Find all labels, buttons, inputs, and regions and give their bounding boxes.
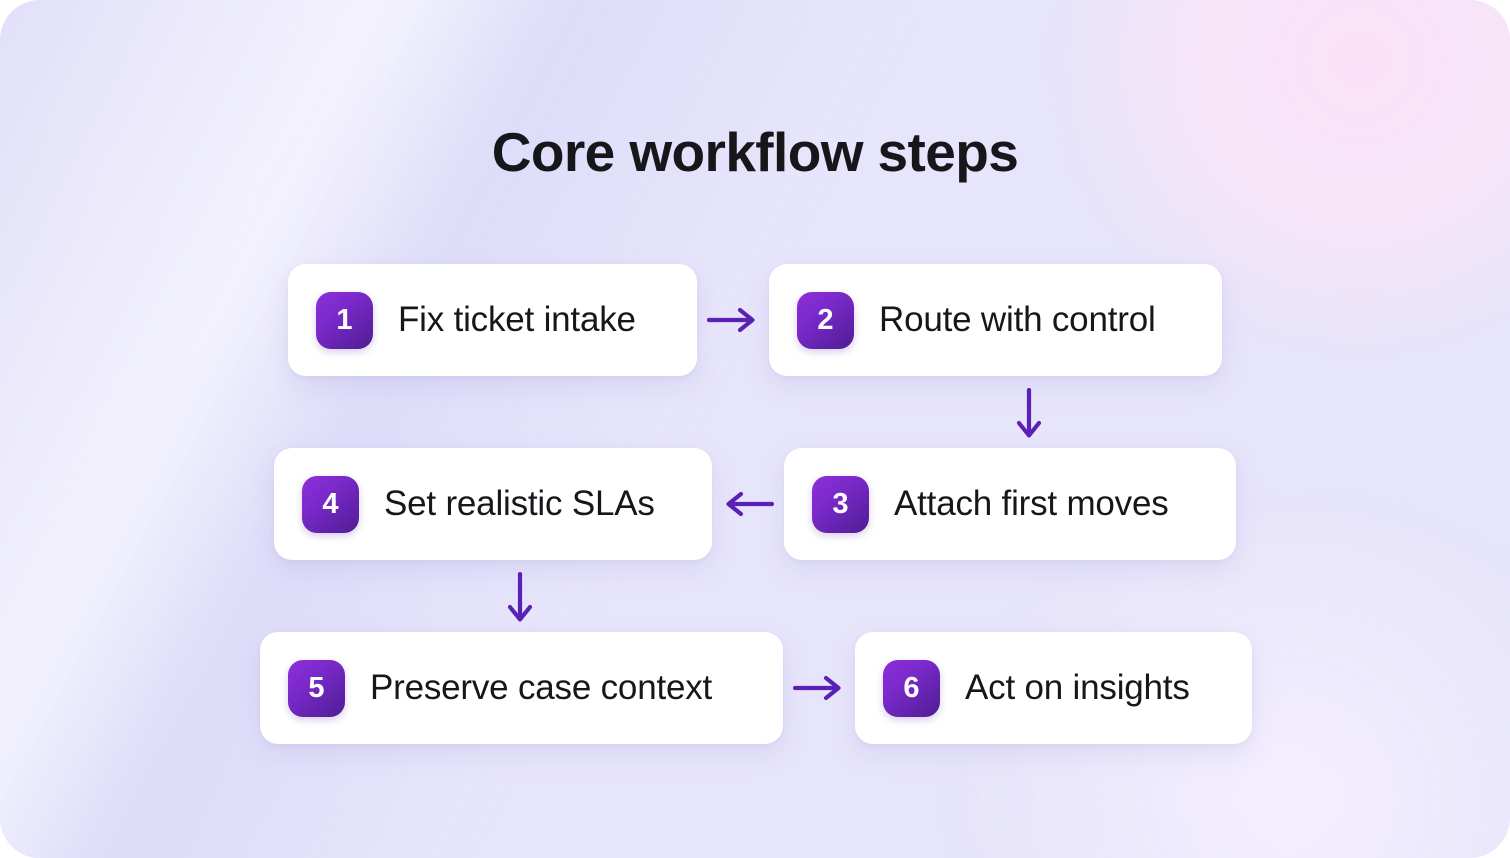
step-label: Act on insights <box>965 666 1190 710</box>
step-number-badge: 1 <box>316 292 373 349</box>
step-number-badge: 3 <box>812 476 869 533</box>
step-number-badge: 5 <box>288 660 345 717</box>
step-label: Preserve case context <box>370 666 712 710</box>
arrow-left-icon <box>712 448 784 560</box>
step-number-badge: 6 <box>883 660 940 717</box>
workflow-row-1: 1 Fix ticket intake 2 Route with control <box>288 264 1222 376</box>
step-card-5[interactable]: 5 Preserve case context <box>260 632 783 744</box>
step-label: Set realistic SLAs <box>384 482 655 526</box>
arrow-down-icon <box>490 571 550 627</box>
step-card-3[interactable]: 3 Attach first moves <box>784 448 1236 560</box>
step-label: Attach first moves <box>894 482 1169 526</box>
arrow-right-icon <box>783 632 855 744</box>
step-card-2[interactable]: 2 Route with control <box>769 264 1222 376</box>
step-card-6[interactable]: 6 Act on insights <box>855 632 1252 744</box>
workflow-diagram: 1 Fix ticket intake 2 Route with control… <box>0 0 1510 858</box>
arrow-right-icon <box>697 264 769 376</box>
step-label: Route with control <box>879 298 1156 342</box>
step-label: Fix ticket intake <box>398 298 636 342</box>
arrow-down-icon <box>999 387 1059 443</box>
infographic-canvas: Core workflow steps 1 Fix ticket intake … <box>0 0 1510 858</box>
step-card-1[interactable]: 1 Fix ticket intake <box>288 264 697 376</box>
workflow-row-2: 4 Set realistic SLAs 3 Attach first move… <box>274 448 1236 560</box>
workflow-row-3: 5 Preserve case context 6 Act on insight… <box>260 632 1252 744</box>
step-card-4[interactable]: 4 Set realistic SLAs <box>274 448 712 560</box>
step-number-badge: 4 <box>302 476 359 533</box>
step-number-badge: 2 <box>797 292 854 349</box>
